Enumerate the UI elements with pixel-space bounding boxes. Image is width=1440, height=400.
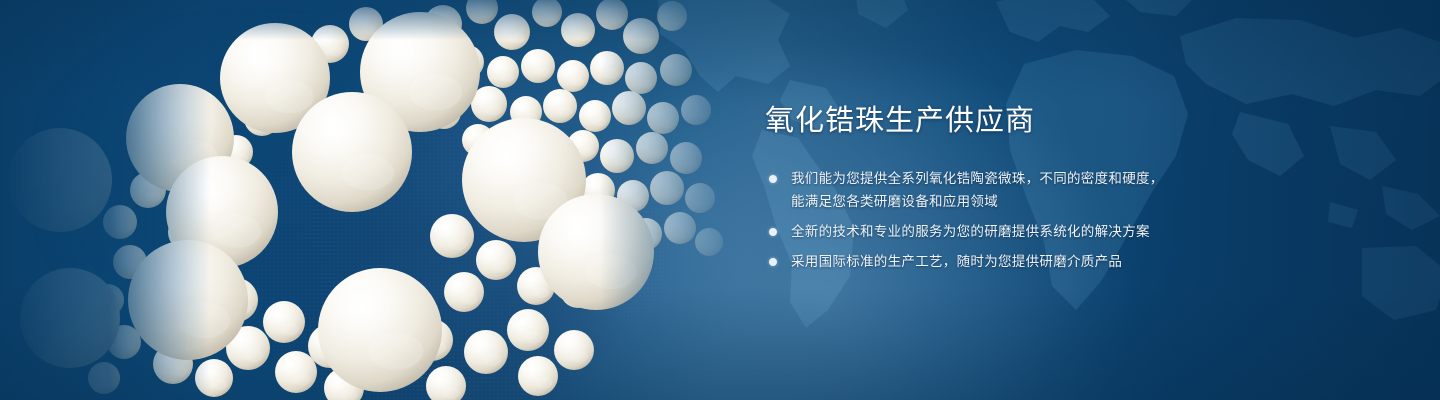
list-item: 采用国际标准的生产工艺，随时为您提供研磨介质产品 bbox=[763, 250, 1233, 273]
list-item-line: 采用国际标准的生产工艺，随时为您提供研磨介质产品 bbox=[791, 250, 1233, 273]
list-item-line: 我们能为您提供全系列氧化锆陶瓷微珠，不同的密度和硬度， bbox=[791, 167, 1233, 190]
page-title: 氧化锆珠生产供应商 bbox=[765, 104, 1233, 139]
list-item: 全新的技术和专业的服务为您的研磨提供系统化的解决方案 bbox=[763, 220, 1233, 243]
banner-text-block: 氧化锆珠生产供应商 我们能为您提供全系列氧化锆陶瓷微珠，不同的密度和硬度， 能满… bbox=[763, 104, 1233, 273]
zirconia-beads-photo bbox=[0, 0, 760, 400]
bullet-dot-icon bbox=[769, 228, 777, 236]
feature-list: 我们能为您提供全系列氧化锆陶瓷微珠，不同的密度和硬度， 能满足您各类研磨设备和应… bbox=[763, 167, 1233, 273]
bullet-dot-icon bbox=[769, 175, 777, 183]
list-item: 我们能为您提供全系列氧化锆陶瓷微珠，不同的密度和硬度， 能满足您各类研磨设备和应… bbox=[763, 167, 1233, 213]
list-item-line: 全新的技术和专业的服务为您的研磨提供系统化的解决方案 bbox=[791, 220, 1233, 243]
list-item-line: 能满足您各类研磨设备和应用领域 bbox=[791, 190, 1233, 213]
bullet-dot-icon bbox=[769, 258, 777, 266]
hero-banner: 氧化锆珠生产供应商 我们能为您提供全系列氧化锆陶瓷微珠，不同的密度和硬度， 能满… bbox=[0, 0, 1440, 400]
